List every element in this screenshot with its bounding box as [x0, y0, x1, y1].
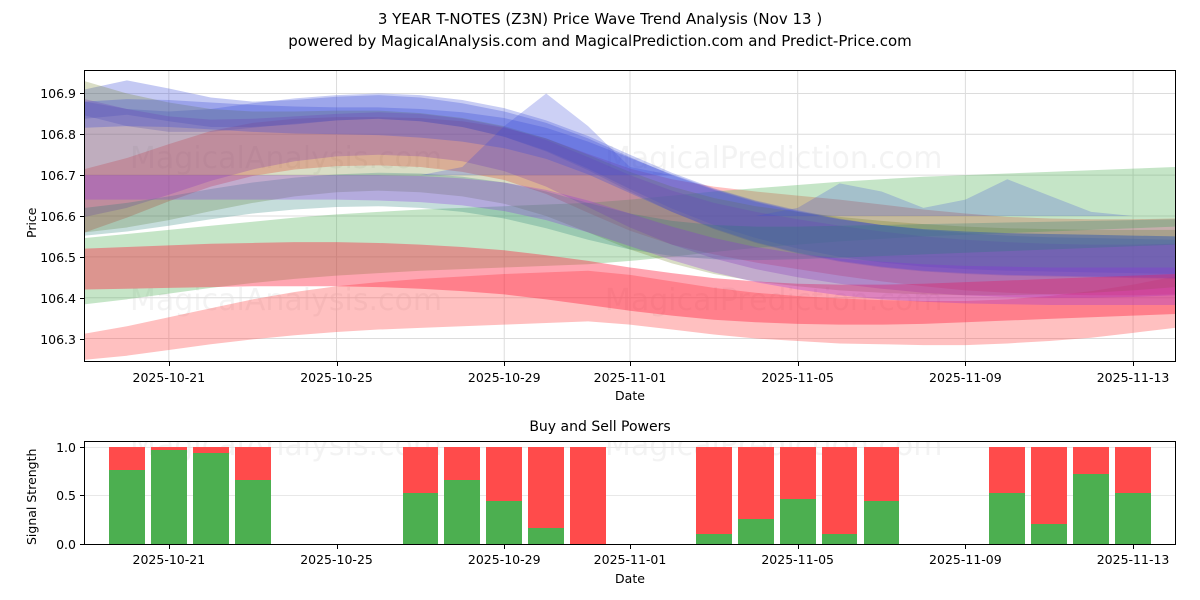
main-xtick-label: 2025-11-09	[910, 370, 1020, 385]
signal-bar[interactable]	[109, 447, 145, 544]
main-ytick-label: 106.4	[6, 291, 76, 306]
main-ytick-mark	[80, 257, 84, 258]
sell-power-segment	[1073, 447, 1109, 474]
sub-xtick-label: 2025-10-21	[114, 552, 224, 567]
main-xtick-mark	[630, 362, 631, 366]
main-xtick-mark	[965, 362, 966, 366]
page-title: 3 YEAR T-NOTES (Z3N) Price Wave Trend An…	[0, 8, 1200, 30]
buy-power-segment	[486, 501, 522, 544]
signal-bar[interactable]	[1031, 447, 1067, 544]
sub-xtick-mark	[169, 545, 170, 549]
main-xtick-mark	[798, 362, 799, 366]
sub-ytick-mark	[80, 495, 84, 496]
buy-power-segment	[109, 470, 145, 544]
sell-power-segment	[403, 447, 439, 493]
signal-bar[interactable]	[1115, 447, 1151, 544]
signal-bar[interactable]	[780, 447, 816, 544]
main-xtick-label: 2025-11-01	[575, 370, 685, 385]
sub-xtick-mark	[965, 545, 966, 549]
buy-power-segment	[738, 519, 774, 544]
buy-power-segment	[1031, 524, 1067, 544]
buy-power-segment	[780, 499, 816, 544]
signal-bar[interactable]	[989, 447, 1025, 544]
sub-xtick-label: 2025-10-29	[449, 552, 559, 567]
buy-power-segment	[151, 450, 187, 544]
signal-bar[interactable]	[864, 447, 900, 544]
main-xtick-mark	[504, 362, 505, 366]
main-ytick-mark	[80, 298, 84, 299]
main-ytick-mark	[80, 339, 84, 340]
buy-power-segment	[403, 493, 439, 544]
signal-bar[interactable]	[193, 447, 229, 544]
main-xtick-label: 2025-10-29	[449, 370, 559, 385]
sell-power-segment	[989, 447, 1025, 493]
price-wave-svg	[85, 71, 1175, 361]
signal-bar[interactable]	[235, 447, 271, 544]
title-block: 3 YEAR T-NOTES (Z3N) Price Wave Trend An…	[0, 8, 1200, 52]
sub-ytick-label: 0.5	[6, 488, 76, 503]
signal-bar[interactable]	[403, 447, 439, 544]
sell-power-segment	[1115, 447, 1151, 493]
main-xtick-mark	[337, 362, 338, 366]
main-ytick-label: 106.8	[6, 127, 76, 142]
buy-power-segment	[696, 534, 732, 544]
signal-bar[interactable]	[151, 447, 187, 544]
sub-ytick-label: 0.0	[6, 537, 76, 552]
page-subtitle: powered by MagicalAnalysis.com and Magic…	[0, 30, 1200, 52]
buy-power-segment	[444, 480, 480, 544]
sub-xtick-mark	[630, 545, 631, 549]
buy-power-segment	[822, 534, 858, 544]
sub-xtick-label: 2025-11-09	[910, 552, 1020, 567]
main-xtick-mark	[1133, 362, 1134, 366]
buy-power-segment	[528, 528, 564, 544]
buy-sell-powers-chart: MagicalAnalysis.com MagicalPrediction.co…	[84, 441, 1176, 545]
buy-power-segment	[864, 501, 900, 544]
sub-xtick-mark	[1133, 545, 1134, 549]
buy-power-segment	[235, 480, 271, 544]
sub-ytick-label: 1.0	[6, 440, 76, 455]
main-xtick-mark	[169, 362, 170, 366]
main-ytick-label: 106.5	[6, 250, 76, 265]
buy-power-segment	[1073, 474, 1109, 544]
sub-xtick-mark	[337, 545, 338, 549]
buy-power-segment	[193, 453, 229, 544]
sell-power-segment	[486, 447, 522, 501]
signal-bar[interactable]	[444, 447, 480, 544]
sell-power-segment	[235, 447, 271, 480]
sub-xtick-label: 2025-11-01	[575, 552, 685, 567]
sub-xtick-label: 2025-10-25	[282, 552, 392, 567]
sub-xtick-label: 2025-11-13	[1078, 552, 1188, 567]
sell-power-segment	[1031, 447, 1067, 524]
sell-power-segment	[738, 447, 774, 519]
signal-bar[interactable]	[1073, 447, 1109, 544]
main-ytick-mark	[80, 216, 84, 217]
signal-bar[interactable]	[570, 447, 606, 544]
sell-power-segment	[780, 447, 816, 499]
sell-power-segment	[109, 447, 145, 470]
main-ytick-mark	[80, 93, 84, 94]
main-ytick-label: 106.6	[6, 209, 76, 224]
price-wave-chart: MagicalAnalysis.com MagicalPrediction.co…	[84, 70, 1176, 362]
main-ytick-mark	[80, 134, 84, 135]
main-xtick-label: 2025-11-13	[1078, 370, 1188, 385]
sell-power-segment	[696, 447, 732, 534]
sell-power-segment	[822, 447, 858, 534]
main-ytick-label: 106.7	[6, 168, 76, 183]
sell-power-segment	[151, 447, 187, 450]
sell-power-segment	[528, 447, 564, 529]
main-ytick-label: 106.3	[6, 332, 76, 347]
main-xtick-label: 2025-10-21	[114, 370, 224, 385]
main-ytick-mark	[80, 175, 84, 176]
buy-power-segment	[989, 493, 1025, 544]
signal-bar[interactable]	[696, 447, 732, 544]
sell-power-segment	[444, 447, 480, 480]
sub-xtick-mark	[504, 545, 505, 549]
main-yaxis-label: Price	[24, 208, 39, 239]
signal-bar[interactable]	[486, 447, 522, 544]
signal-bar[interactable]	[738, 447, 774, 544]
sell-power-segment	[864, 447, 900, 501]
main-ytick-label: 106.9	[6, 86, 76, 101]
sub-xtick-label: 2025-11-05	[743, 552, 853, 567]
main-xtick-label: 2025-11-05	[743, 370, 853, 385]
signal-bar[interactable]	[822, 447, 858, 544]
chart-page: 3 YEAR T-NOTES (Z3N) Price Wave Trend An…	[0, 0, 1200, 600]
sub-ytick-mark	[80, 544, 84, 545]
sell-power-segment	[570, 447, 606, 544]
buy-power-segment	[1115, 493, 1151, 544]
signal-bar[interactable]	[528, 447, 564, 544]
sub-xaxis-label: Date	[84, 571, 1176, 586]
sub-yaxis-label: Signal Strength	[24, 449, 39, 545]
sub-ytick-mark	[80, 447, 84, 448]
subchart-title: Buy and Sell Powers	[0, 419, 1200, 435]
sub-xtick-mark	[798, 545, 799, 549]
sell-power-segment	[193, 447, 229, 453]
main-xtick-label: 2025-10-25	[282, 370, 392, 385]
main-xaxis-label: Date	[84, 388, 1176, 403]
